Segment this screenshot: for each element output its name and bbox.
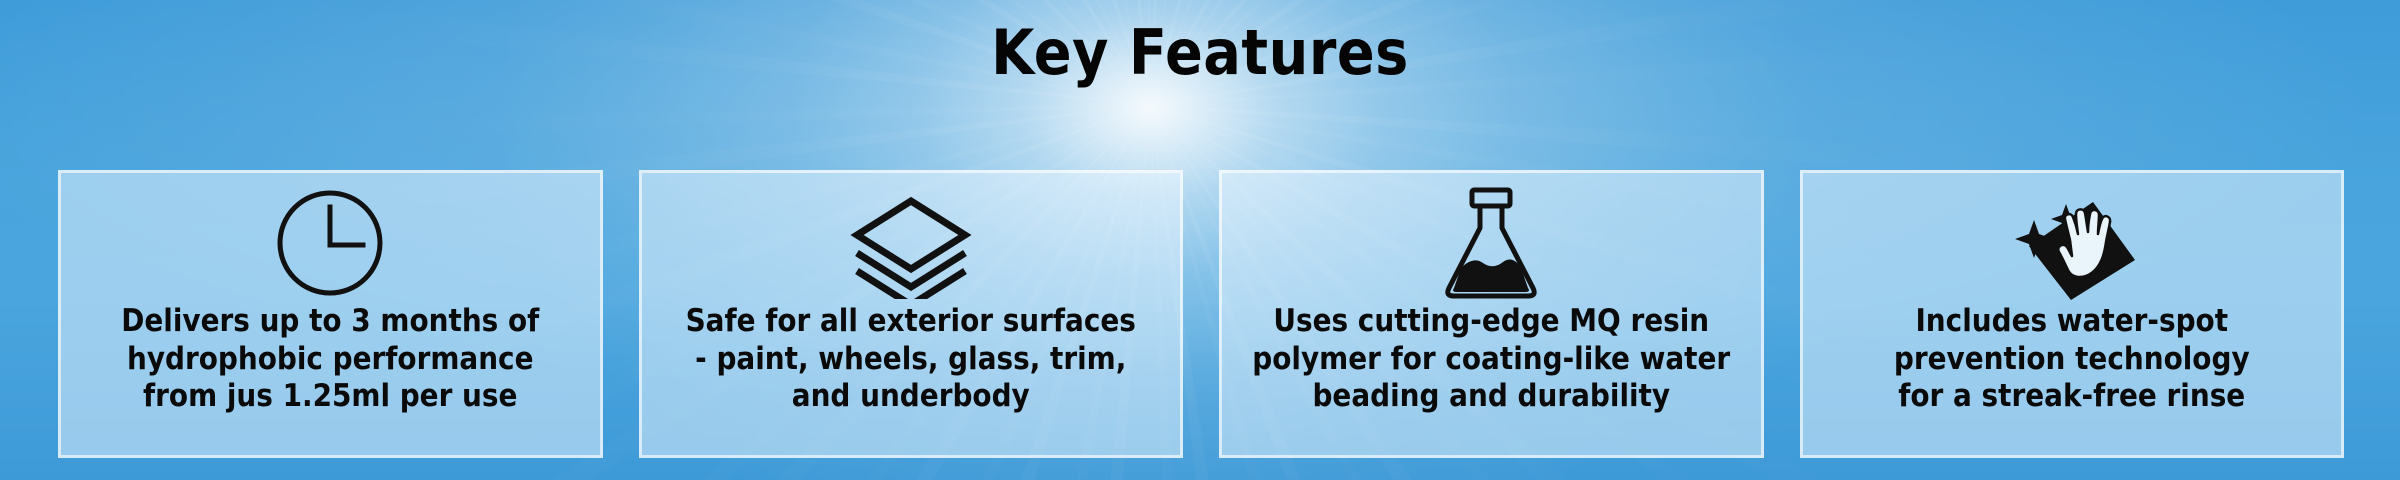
feature-card-surfaces: Safe for all exterior surfaces - paint, … <box>639 170 1184 458</box>
key-features-banner: Key Features Delivers up to 3 months of … <box>0 0 2400 480</box>
layers-icon <box>849 187 973 299</box>
page-title: Key Features <box>0 22 2400 84</box>
flask-icon <box>1435 187 1547 299</box>
feature-card-duration: Delivers up to 3 months of hydrophobic p… <box>58 170 603 458</box>
feature-card-polymer: Uses cutting-edge MQ resin polymer for c… <box>1219 170 1764 458</box>
wipe-cloth-icon <box>2007 187 2137 299</box>
clock-icon <box>274 187 386 299</box>
feature-card-water-spot: Includes water-spot prevention technolog… <box>1800 170 2345 458</box>
feature-card-text: Delivers up to 3 months of hydrophobic p… <box>61 303 600 416</box>
feature-card-list: Delivers up to 3 months of hydrophobic p… <box>58 170 2344 458</box>
feature-card-text: Uses cutting-edge MQ resin polymer for c… <box>1222 303 1761 416</box>
feature-card-text: Safe for all exterior surfaces - paint, … <box>642 303 1181 416</box>
feature-card-text: Includes water-spot prevention technolog… <box>1803 303 2342 416</box>
